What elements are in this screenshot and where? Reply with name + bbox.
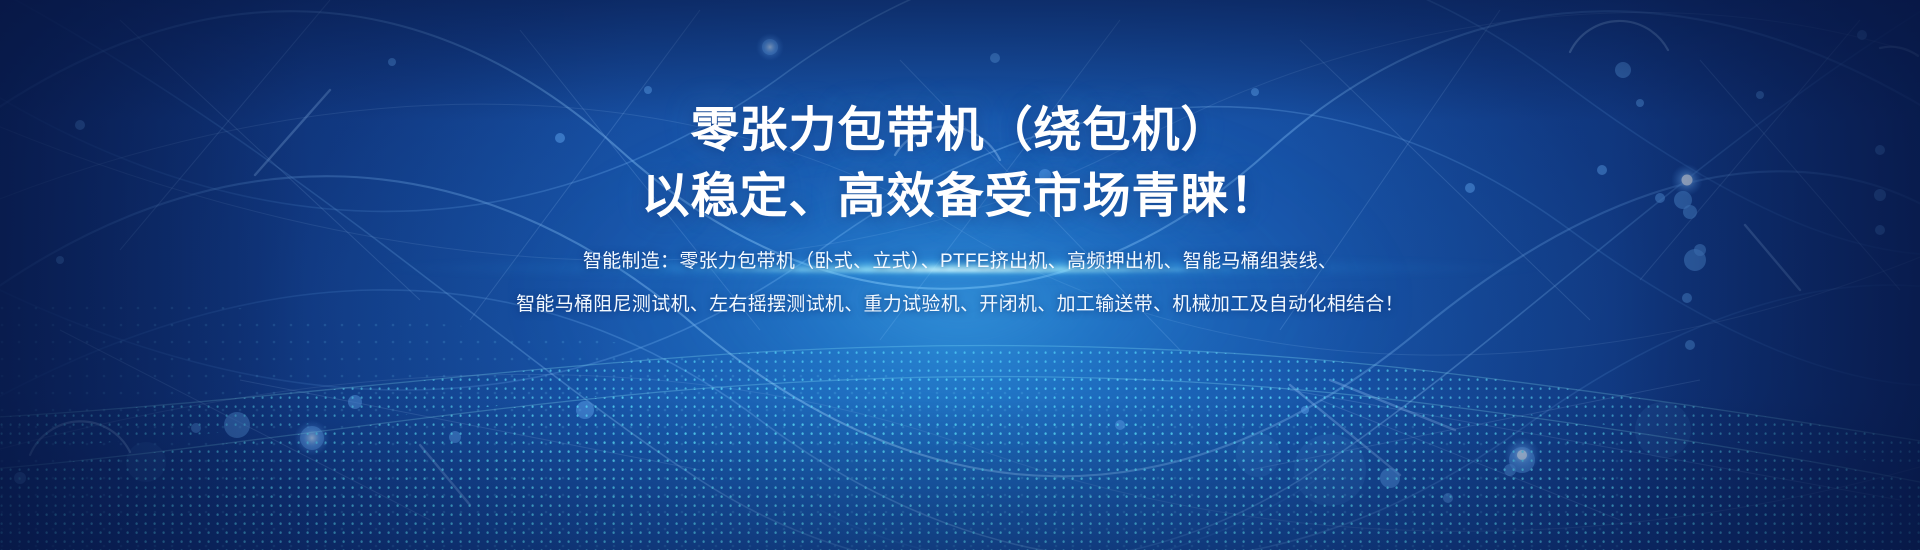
headline-line-1: 零张力包带机（绕包机） — [690, 103, 1229, 159]
description-line-2: 智能马桶阻尼测试机、左右摇摆测试机、重力试验机、开闭机、加工输送带、机械加工及自… — [516, 292, 1404, 318]
headline-line-2: 以稳定、高效备受市场青睐！ — [641, 169, 1278, 225]
hero-banner: 零张力包带机（绕包机） 以稳定、高效备受市场青睐！ 智能制造：零张力包带机（卧式… — [0, 0, 1920, 550]
description-group: 智能制造：零张力包带机（卧式、立式）、PTFE挤出机、高频押出机、智能马桶组装线… — [516, 249, 1404, 318]
headline-group: 零张力包带机（绕包机） 以稳定、高效备受市场青睐！ — [641, 103, 1278, 225]
banner-content: 零张力包带机（绕包机） 以稳定、高效备受市场青睐！ 智能制造：零张力包带机（卧式… — [0, 0, 1920, 550]
description-line-1: 智能制造：零张力包带机（卧式、立式）、PTFE挤出机、高频押出机、智能马桶组装线… — [583, 249, 1337, 275]
